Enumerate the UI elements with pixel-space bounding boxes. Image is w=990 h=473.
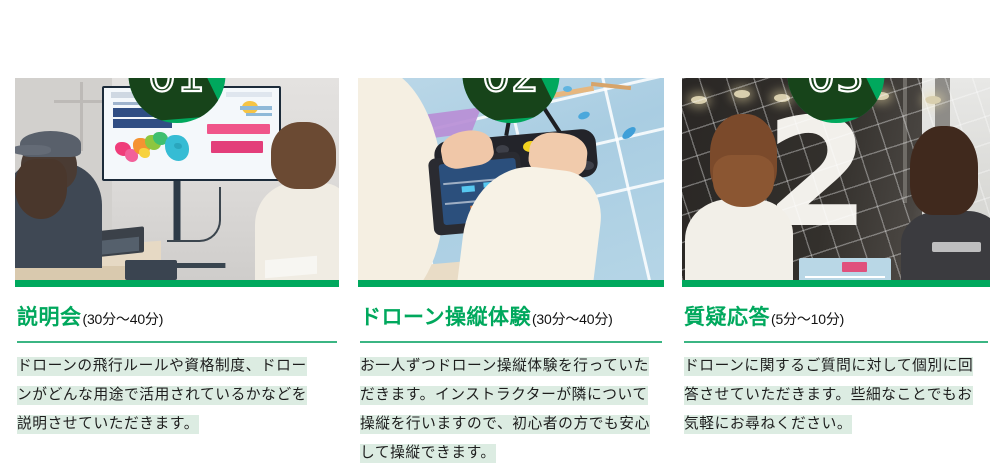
slide-text-line-1 [240,106,271,110]
body-line: 操縦を行いますので、初心者の方でも安心 [360,415,664,433]
body-line: ドローンの飛行ルールや資格制度、ドロー [17,357,339,375]
step-thin-rule-1 [17,341,337,343]
body-line: だきます。インストラクターが隣について [360,386,664,404]
badge-number-label: 03 [788,78,885,123]
body-line: して操縦できます。 [360,444,664,462]
step-title-2: ドローン操縦体験 [360,301,531,331]
body-line: 答させていただきます。些細なことでもお [684,386,990,404]
slide-japan-map [115,132,195,168]
step-duration-2: (30分〜40分) [532,309,613,329]
step-photo-2: 02 [358,78,664,280]
step-body-3: ドローンに関するご質問に対して個別に回 答させていただきます。些細なことでもお … [682,357,990,433]
step-body-2: お一人ずつドローン操縦体験を行っていた だきます。インストラクターが隣について … [358,357,664,462]
step-badge-3: 03 [788,78,885,123]
step-body-1: ドローンの飛行ルールや資格制度、ドロー ンがどんな用途で活用されているかなどを … [15,357,339,433]
body-line: お一人ずつドローン操縦体験を行っていた [360,357,664,375]
photo-attendee-head [271,122,336,189]
step-thin-rule-2 [360,341,662,343]
step-card-3: 2 03 [682,0,990,444]
steps-flow: 01 説明会 (30分〜40分) ドローンの飛行ルールや資格制度、ドロー ンがど… [0,0,990,464]
photo-display-marker [842,262,867,272]
step-photo-3: 2 03 [682,78,990,280]
photo-cable [167,187,221,242]
photo-attendee-b-hair [910,126,978,215]
body-line: 気軽にお尋ねください。 [684,415,990,433]
step-divider-bar-3 [682,280,990,287]
body-line: ドローンに関するご質問に対して個別に回 [684,357,990,375]
photo-equipment-case [125,260,177,280]
step-divider-bar-2 [358,280,664,287]
photo-instructor-cap-brim [15,145,51,155]
body-line: ンがどんな用途で活用されているかなどを [17,386,339,404]
step-badge-2: 02 [463,78,560,123]
step-badge-1: 01 [129,78,226,123]
body-line: 説明させていただきます。 [17,415,339,433]
photo-attendee-a-body [685,199,793,280]
step-card-2: 02 ドローン操縦体験 (30分〜40分) お一人ずつドローン操縦体験を行ってい… [358,0,664,473]
step-title-3: 質疑応答 [684,301,770,331]
slide-rank-no1 [207,124,270,134]
step-card-1: 01 説明会 (30分〜40分) ドローンの飛行ルールや資格制度、ドロー ンがど… [15,0,339,444]
step-title-1: 説明会 [17,301,82,331]
map-region-8 [174,143,182,150]
step-duration-1: (30分〜40分) [83,309,164,329]
photo-attendee-a-hair-lower [713,155,775,208]
photo-display-line [805,276,885,278]
badge-number-label: 01 [129,78,226,123]
slide-text-line-2 [246,113,272,117]
step-photo-1: 01 [15,78,339,280]
step-duration-3: (5分〜10分) [771,309,844,329]
step-title-row-3: 質疑応答 (5分〜10分) [682,287,990,341]
photo-instructor-hair [15,159,67,220]
step-thin-rule-3 [684,341,988,343]
badge-number-label: 02 [463,78,560,123]
screen-marker [462,185,475,191]
map-region-6 [139,148,150,157]
step-divider-bar-1 [15,280,339,287]
step-title-row-2: ドローン操縦体験 (30分〜40分) [358,287,664,341]
slide-header-right [226,92,271,97]
step-title-row-1: 説明会 (30分〜40分) [15,287,339,341]
photo-jacket-logo [932,242,981,252]
slide-count-5000 [211,141,263,153]
